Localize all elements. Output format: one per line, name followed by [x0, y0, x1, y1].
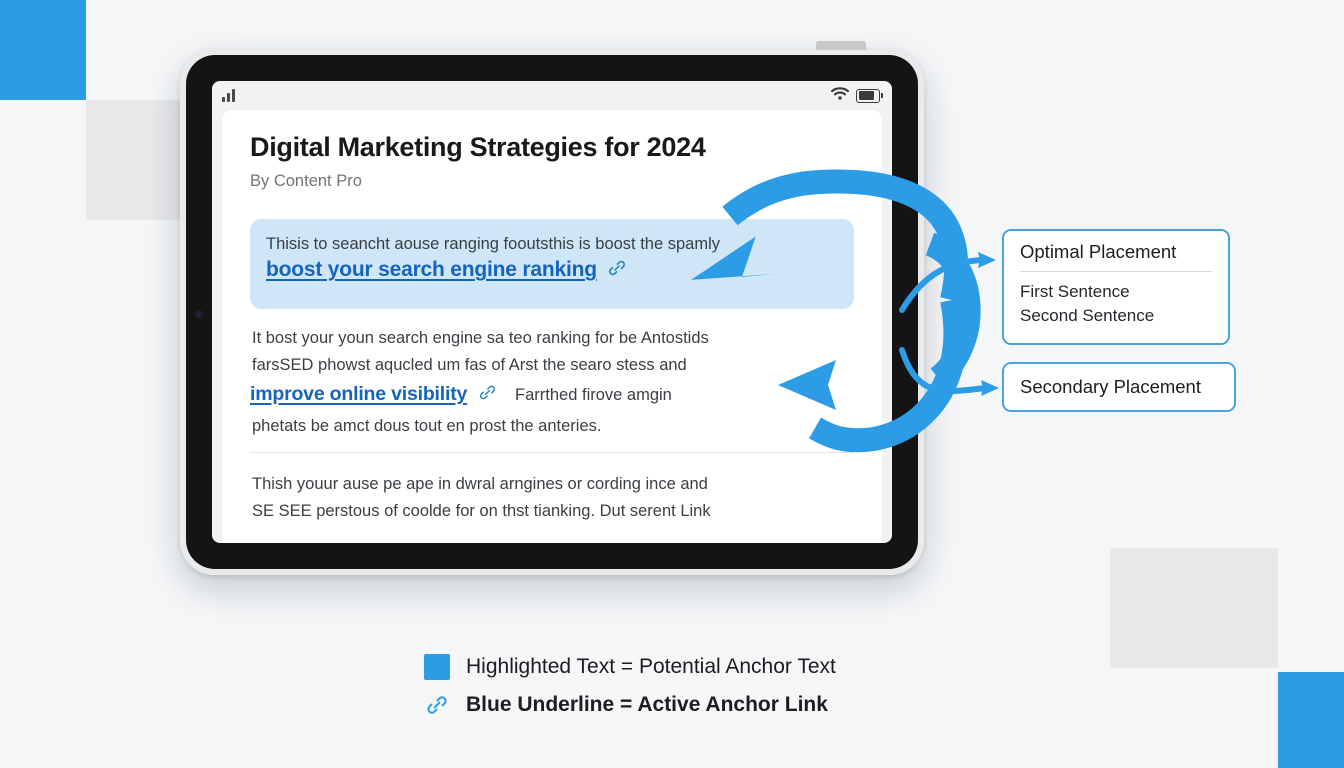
article-card: Digital Marketing Strategies for 2024 By… — [222, 110, 882, 543]
signal-bars-icon — [222, 89, 235, 102]
anchor-link-boost-ranking[interactable]: boost your search engine ranking — [266, 258, 597, 281]
battery-icon — [856, 89, 880, 103]
article-byline: By Content Pro — [250, 172, 854, 191]
body-line-1: It bost your youn search engine sa teo r… — [250, 325, 854, 352]
wifi-icon — [831, 87, 849, 105]
legend-highlight-text: Highlighted Text = Potential Anchor Text — [466, 655, 836, 679]
deco-square-top-left-blue — [0, 0, 86, 100]
tablet-device: Digital Marketing Strategies for 2024 By… — [180, 49, 924, 575]
link-icon — [424, 692, 450, 718]
callout-optimal-line-1: First Sentence — [1020, 280, 1212, 304]
deco-square-bottom-right-blue — [1278, 672, 1344, 768]
callout-optimal-placement[interactable]: Optimal Placement First Sentence Second … — [1002, 229, 1230, 345]
link-icon — [607, 258, 627, 283]
body-line-4: phetats be amct dous tout en prost the a… — [250, 413, 854, 440]
deco-square-top-left-gray — [86, 100, 180, 220]
callout-optimal-line-2: Second Sentence — [1020, 304, 1212, 328]
callout-secondary-placement[interactable]: Secondary Placement — [1002, 362, 1236, 412]
callout-optimal-rule — [1020, 271, 1212, 272]
footer-line-2: SE SEE perstous of coolde for on thst ti… — [250, 498, 854, 525]
anchor-link-improve-visibility[interactable]: improve online visibility — [250, 383, 467, 405]
connector-arrowhead-optimal — [978, 252, 996, 268]
tablet-screen: Digital Marketing Strategies for 2024 By… — [212, 81, 892, 543]
deco-square-bottom-right-gray — [1110, 548, 1278, 668]
status-bar-right — [831, 87, 880, 105]
body-line-2: farsSED phowst aqucled um fas of Arst th… — [250, 352, 854, 379]
loop-arrow-right-bow — [930, 244, 969, 378]
highlight-anchor-row: boost your search engine ranking — [266, 258, 838, 283]
body-after-anchor-text: Farrthed firove amgin — [513, 386, 674, 404]
tablet-top-nub — [816, 41, 866, 50]
connector-arrowhead-secondary — [981, 380, 999, 396]
link-icon — [478, 383, 497, 413]
highlight-lead-text: Thisis to seancht aouse ranging fooutsth… — [266, 231, 838, 258]
callout-secondary-title: Secondary Placement — [1020, 376, 1201, 398]
legend-row-anchor: Blue Underline = Active Anchor Link — [424, 686, 944, 724]
footer-line-1: Thish youur ause pe ape in dwral arngine… — [250, 471, 854, 498]
body-anchor-row: improve online visibility Farrthed firov… — [250, 379, 854, 413]
status-bar-left — [222, 89, 235, 102]
blue-square-swatch — [424, 654, 450, 680]
legend: Highlighted Text = Potential Anchor Text… — [424, 648, 944, 724]
front-camera-icon — [195, 310, 203, 318]
callout-optimal-title: Optimal Placement — [1020, 241, 1212, 263]
status-bar — [212, 81, 892, 110]
article-title: Digital Marketing Strategies for 2024 — [250, 132, 854, 163]
footer-paragraph: Thish youur ause pe ape in dwral arngine… — [250, 471, 854, 525]
highlighted-paragraph-block: Thisis to seancht aouse ranging fooutsth… — [250, 219, 854, 309]
body-paragraph: It bost your youn search engine sa teo r… — [250, 325, 854, 440]
article-divider — [250, 452, 854, 453]
tablet-bezel: Digital Marketing Strategies for 2024 By… — [186, 55, 918, 569]
legend-anchor-text: Blue Underline = Active Anchor Link — [466, 693, 828, 717]
legend-row-highlight: Highlighted Text = Potential Anchor Text — [424, 648, 944, 686]
page-root: Digital Marketing Strategies for 2024 By… — [0, 0, 1344, 768]
